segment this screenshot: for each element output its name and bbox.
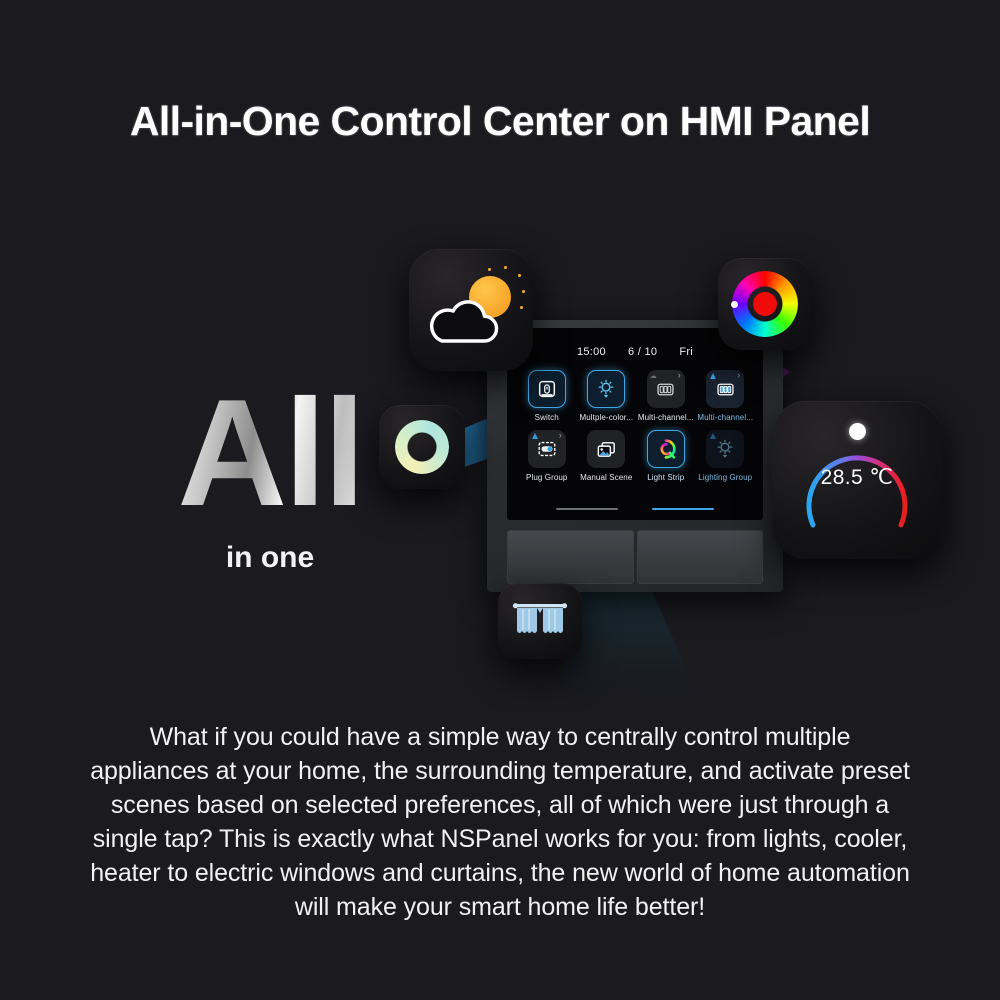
- status-weekday: Fri: [679, 346, 693, 358]
- tile-lighting-group[interactable]: [706, 430, 744, 468]
- home-indicator-right: [652, 508, 714, 510]
- home-indicator-bar: [507, 508, 763, 510]
- tile-plug-group[interactable]: ›: [528, 430, 566, 468]
- tile-label: Manual Scene: [580, 473, 632, 482]
- tile-cell-multiple-color[interactable]: Multple-color...: [578, 370, 636, 422]
- tile-grid: Switch: [518, 370, 754, 482]
- multi-gang-switch-icon: [655, 379, 676, 400]
- light-strip-icon: [654, 437, 678, 461]
- tile-multi-channel-2[interactable]: ›: [706, 370, 744, 408]
- tile-cell-switch[interactable]: Switch: [518, 370, 576, 422]
- device-physical-buttons[interactable]: [507, 530, 763, 584]
- multi-gang-switch-icon: [715, 379, 736, 400]
- temperature-knob[interactable]: [849, 423, 866, 440]
- tile-cell-manual-scene[interactable]: Manual Scene: [578, 430, 636, 482]
- cloud-badge-icon: [710, 373, 716, 379]
- temperature-value: 28.5 ℃: [792, 465, 922, 490]
- tile-label: Plug Group: [526, 473, 567, 482]
- temperature-dial-icon: 28.5 ℃: [792, 421, 922, 539]
- tile-multiple-color[interactable]: [587, 370, 625, 408]
- tile-manual-scene[interactable]: [587, 430, 625, 468]
- curtain-icon: [512, 601, 568, 641]
- curtain-widget[interactable]: [498, 583, 582, 659]
- chevron-right-icon[interactable]: ›: [559, 431, 562, 440]
- status-date: 6 / 10: [628, 346, 657, 358]
- nspanel-device: 15:00 6 / 10 Fri Switch: [487, 320, 783, 592]
- color-wheel-center: [753, 292, 777, 316]
- description-paragraph: What if you could have a simple way to c…: [90, 720, 910, 924]
- chevron-right-icon[interactable]: ›: [678, 371, 681, 380]
- color-bulb-icon: [714, 438, 736, 460]
- tile-label: Switch: [535, 413, 559, 422]
- all-in-one-wordmark: All in one: [120, 382, 420, 575]
- tile-cell-multi-channel-2[interactable]: › Multi-channel...: [697, 370, 755, 422]
- color-wheel-icon: [732, 271, 798, 337]
- physical-button-left[interactable]: [507, 530, 634, 584]
- color-wheel-knob[interactable]: [731, 301, 738, 308]
- wifi-icon: ☁: [650, 373, 657, 380]
- physical-button-right[interactable]: [637, 530, 764, 584]
- scene-picture-icon: [595, 438, 618, 461]
- status-bar: 15:00 6 / 10 Fri: [507, 346, 763, 358]
- sun-behind-cloud-icon: [423, 274, 519, 346]
- page-root: All-in-One Control Center on HMI Panel A…: [0, 0, 1000, 1000]
- weather-widget[interactable]: [409, 249, 533, 371]
- cloud-icon: [425, 300, 501, 344]
- tile-label: Lighting Group: [698, 473, 752, 482]
- brightness-ring-widget[interactable]: [379, 405, 465, 489]
- rgb-color-wheel-widget[interactable]: [718, 258, 812, 350]
- status-time: 15:00: [577, 346, 606, 358]
- tile-cell-multi-channel-1[interactable]: ☁ › Multi-channel...: [637, 370, 695, 422]
- tile-label: Light Strip: [647, 473, 684, 482]
- tile-switch[interactable]: [528, 370, 566, 408]
- color-bulb-icon: [595, 378, 617, 400]
- tile-label: Multple-color...: [579, 413, 633, 422]
- single-switch-icon: [536, 378, 558, 400]
- home-indicator-left: [556, 508, 618, 510]
- tile-multi-channel-1[interactable]: ☁ ›: [647, 370, 685, 408]
- tile-label: Multi-channel...: [638, 413, 694, 422]
- tile-cell-plug-group[interactable]: › Plug Group: [518, 430, 576, 482]
- wordmark-in-one: in one: [120, 541, 420, 575]
- thermostat-widget[interactable]: 28.5 ℃: [772, 401, 942, 559]
- device-screen[interactable]: 15:00 6 / 10 Fri Switch: [507, 328, 763, 520]
- tile-cell-light-strip[interactable]: Light Strip: [637, 430, 695, 482]
- tile-cell-lighting-group[interactable]: Lighting Group: [697, 430, 755, 482]
- chevron-right-icon[interactable]: ›: [737, 371, 740, 380]
- page-title: All-in-One Control Center on HMI Panel: [0, 98, 1000, 145]
- tile-label: Multi-channel...: [697, 413, 753, 422]
- plug-toggle-icon: [536, 438, 558, 460]
- brightness-ring-icon[interactable]: [395, 420, 449, 474]
- wordmark-all: All: [120, 382, 420, 525]
- tile-light-strip[interactable]: [647, 430, 685, 468]
- cloud-badge-icon: [532, 433, 538, 439]
- cloud-badge-icon: [710, 433, 716, 439]
